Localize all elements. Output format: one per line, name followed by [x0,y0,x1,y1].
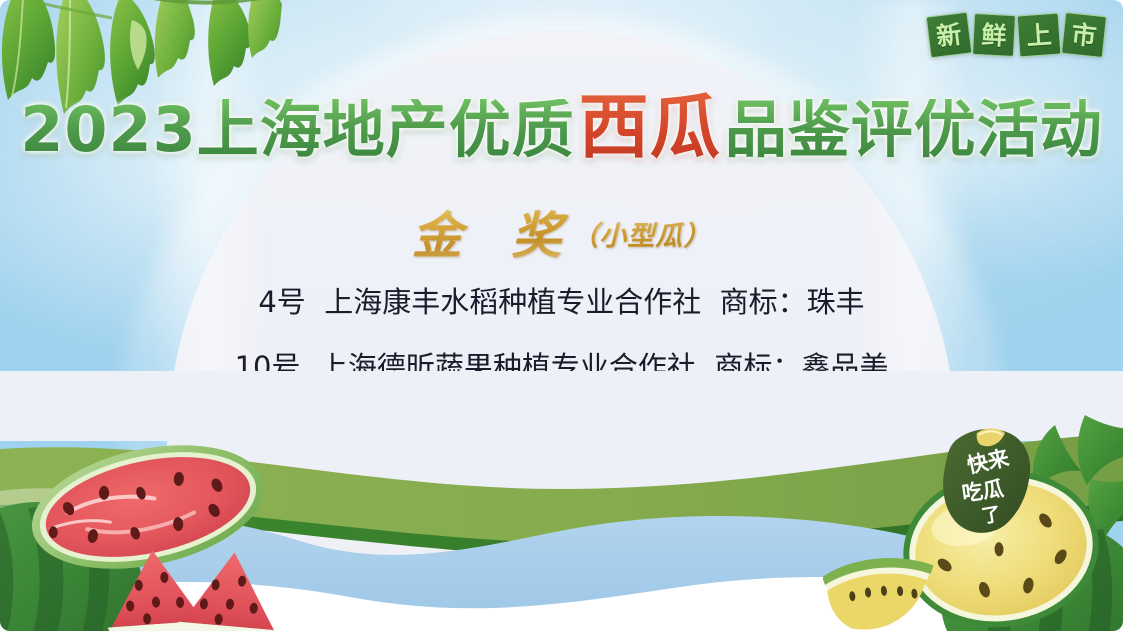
come-eat-watermelon-tag: 快来 吃瓜 了 [935,421,1043,539]
winner-brand-1: 珠丰 [807,285,865,319]
title-highlight-watermelon: 西瓜 [575,92,725,162]
main-title: 2023上海地产优质西瓜品鉴评优活动 [0,92,1123,162]
winner-number-1: 4号 [258,285,305,319]
title-part-2: 品鉴评优活动 [725,99,1103,161]
badge-char-3: 上 [1017,13,1062,58]
badge-char-4: 市 [1061,12,1107,58]
award-category: （小型瓜） [571,214,711,253]
winner-org-1: 上海康丰水稻种植专业合作社 [324,285,701,319]
award-label: 金 奖 [412,196,577,268]
fresh-on-market-badge: 新 鲜 上 市 [928,14,1105,56]
badge-char-1: 新 [926,12,973,59]
winner-brand-label-1: 商标： [720,285,807,319]
red-watermelon-illustration [0,412,318,631]
tag-text-line3: 了 [980,503,1003,528]
badge-char-2: 鲜 [972,13,1016,57]
poster-canvas: 新 鲜 上 市 2023上海地产优质西瓜品鉴评优活动 金 奖（小型瓜） 4号 上… [0,0,1123,631]
award-heading: 金 奖（小型瓜） [0,196,1123,268]
title-part-1: 2023上海地产优质 [20,99,575,161]
winner-row-1: 4号 上海康丰水稻种植专业合作社 商标：珠丰 [0,288,1123,317]
